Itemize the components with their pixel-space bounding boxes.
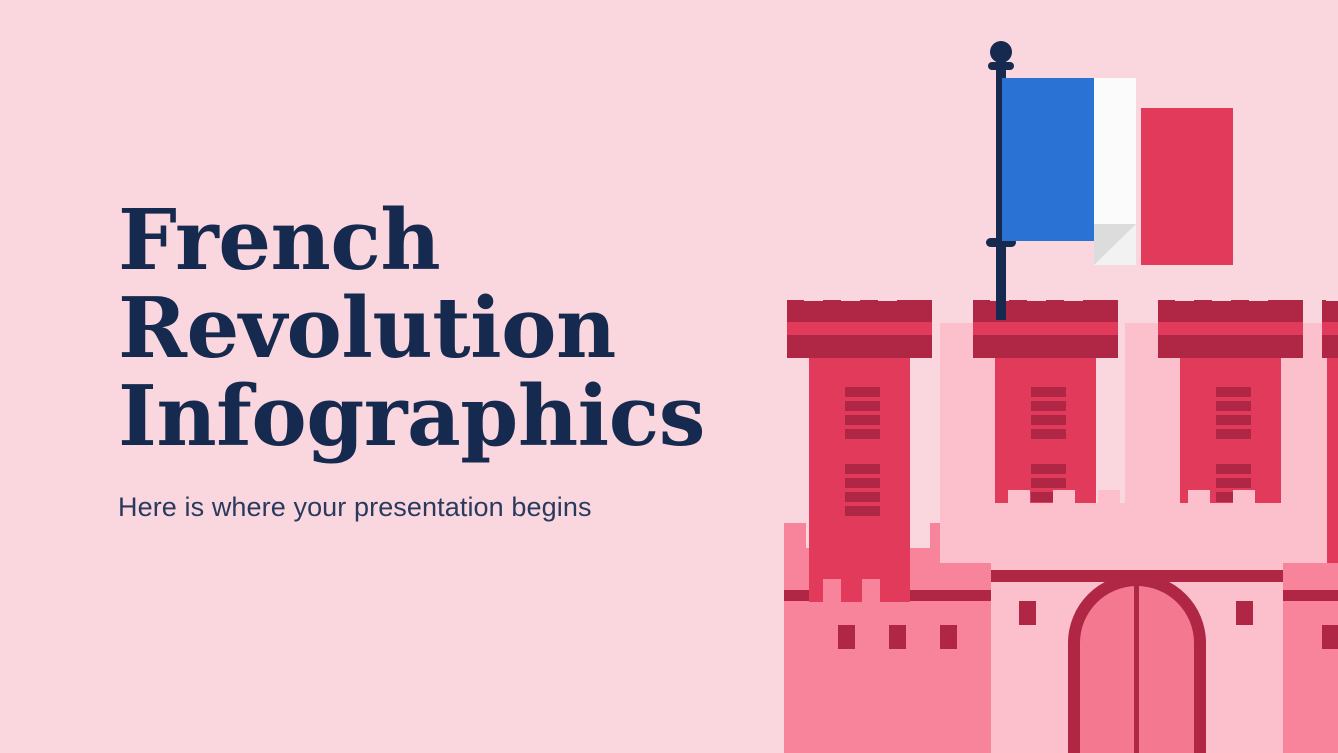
wall-left-window-3 [940, 625, 957, 649]
gatehouse-merlon-3 [1098, 490, 1120, 504]
title-block: French Revolution Infographics Here is w… [118, 196, 798, 524]
wall-left-window-1 [838, 625, 855, 649]
page-title: French Revolution Infographics [118, 196, 798, 460]
tower-right-crenel-3 [1249, 287, 1268, 301]
tower-left-base-notch-1 [823, 579, 841, 602]
gatehouse-parapet [991, 503, 1283, 539]
tower-far-right-crenel-1 [1326, 287, 1338, 301]
gatehouse-merlon-2 [1053, 490, 1075, 504]
tower-center-crenel-3 [1064, 287, 1083, 301]
gatehouse-merlon-4 [1143, 490, 1165, 504]
wall-left-window-2 [889, 625, 906, 649]
tower-center-crenel-2 [1027, 287, 1046, 301]
wall-left-merlon-0 [784, 523, 806, 549]
tower-left-crenel-gap [787, 276, 932, 288]
wall-right-window-1 [1322, 625, 1338, 649]
wall-right-band [1283, 590, 1338, 601]
tower-left-crenel-2 [841, 287, 860, 301]
gatehouse-window-right [1236, 601, 1253, 625]
tower-left-crenel-1 [804, 287, 823, 301]
page-subtitle: Here is where your presentation begins [118, 460, 798, 524]
gatehouse-merlon-5 [1188, 490, 1210, 504]
castle-gatehouse [991, 490, 1283, 753]
tower-left-base-notch-2 [862, 579, 880, 602]
flag-pole-finial-ball [990, 41, 1012, 63]
tower-far-right-crenel-gap [1322, 276, 1338, 288]
tower-right-crenel-gap [1158, 276, 1303, 288]
flag-stripe-blue [1002, 78, 1094, 241]
tower-far-right-crown-band [1322, 322, 1338, 335]
tower-right-crown-band [1158, 322, 1303, 335]
tower-right-crenel-1 [1175, 287, 1194, 301]
tower-center-crown-band [973, 322, 1118, 335]
flag-stripe-red [1141, 108, 1233, 265]
presentation-slide: French Revolution Infographics Here is w… [0, 0, 1338, 753]
tower-center-crenel-gap [973, 276, 1118, 288]
gatehouse-merlon-1 [1008, 490, 1030, 504]
tower-far-right-body [1327, 358, 1338, 563]
tower-right-crenel-2 [1212, 287, 1231, 301]
tower-left-crown-band [787, 322, 932, 335]
tower-left-crenel-3 [878, 287, 897, 301]
wall-right-body [1283, 548, 1338, 753]
gatehouse-window-left [1019, 601, 1036, 625]
gate-door-divider [1134, 586, 1139, 753]
flag-pole-finial-crossbar [988, 62, 1014, 70]
gatehouse-merlon-6 [1233, 490, 1255, 504]
